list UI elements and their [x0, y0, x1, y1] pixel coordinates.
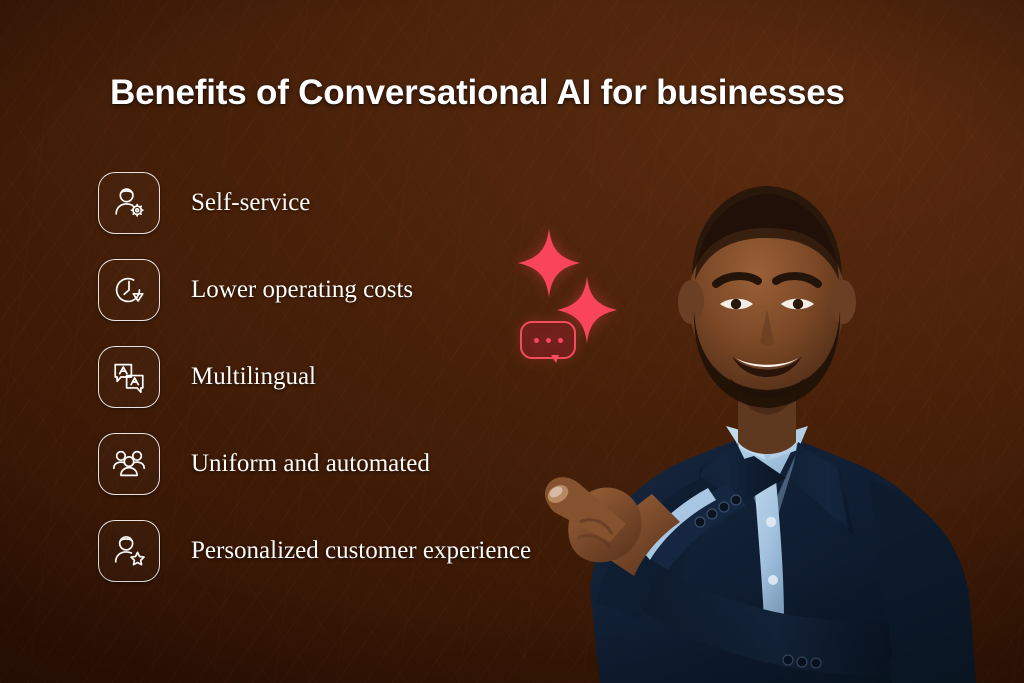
- translate-speech-bubbles-icon: [98, 346, 160, 408]
- promo-graphic-canvas: Benefits of Conversational AI for busine…: [0, 0, 1024, 683]
- clock-down-arrow-icon: [98, 259, 160, 321]
- person-star-icon: [98, 520, 160, 582]
- list-item-label: Uniform and automated: [191, 450, 430, 478]
- list-item-label: Multilingual: [191, 363, 316, 391]
- businessman-photo: [540, 150, 1024, 683]
- list-item-label: Lower operating costs: [191, 276, 413, 304]
- list-item-label: Self-service: [191, 189, 310, 217]
- list-item-label: Personalized customer experience: [191, 537, 531, 565]
- people-group-icon: [98, 433, 160, 495]
- person-gear-icon: [98, 172, 160, 234]
- chat-dot: [534, 338, 539, 343]
- page-title: Benefits of Conversational AI for busine…: [110, 73, 845, 113]
